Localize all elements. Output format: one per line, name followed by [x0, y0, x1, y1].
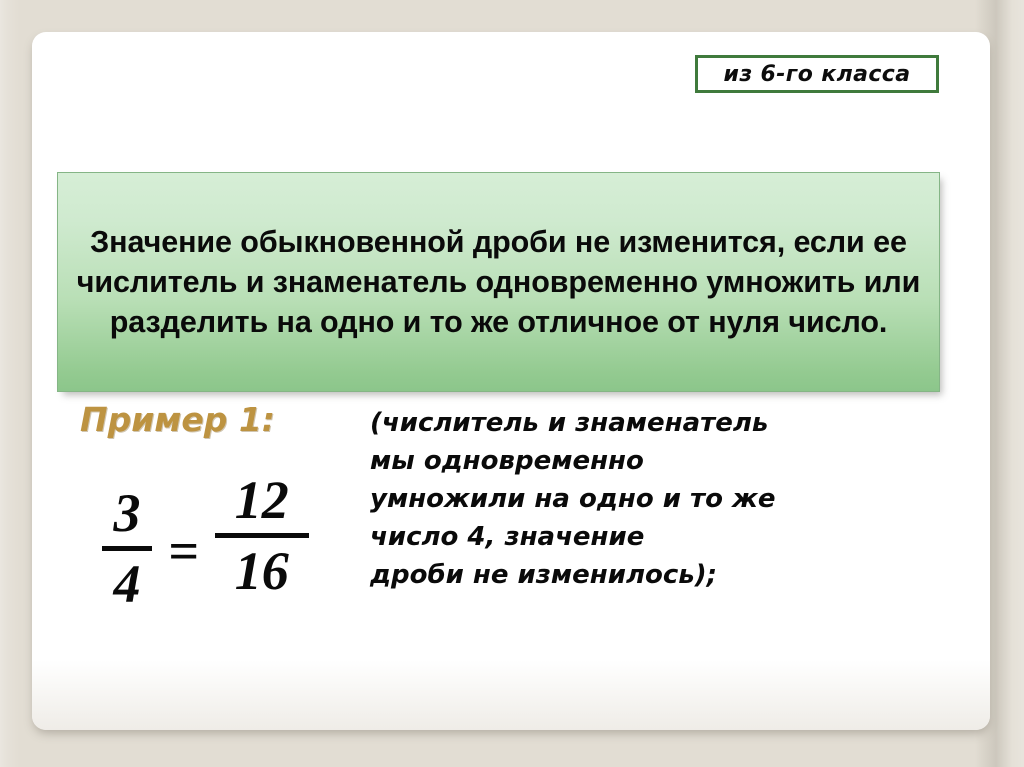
rule-callout-box: Значение обыкновенной дроби не изменится… [57, 172, 940, 392]
fraction-right-bar [215, 533, 309, 538]
example-label: Пример 1: [80, 400, 275, 439]
rule-text: Значение обыкновенной дроби не изменится… [76, 222, 921, 342]
fraction-left: 3 4 [102, 486, 152, 611]
grade-badge: из 6-го класса [695, 55, 939, 93]
fraction-right-numerator: 12 [231, 473, 293, 527]
explanation-text: (числитель и знаменатель мы одновременно… [370, 404, 910, 594]
fraction-right: 12 16 [215, 473, 309, 598]
fraction-equation: 3 4 = 12 16 [102, 460, 309, 611]
slide-panel: из 6-го класса Значение обыкновенной дро… [32, 32, 990, 730]
fraction-left-bar [102, 546, 152, 551]
fraction-left-numerator: 3 [108, 486, 147, 540]
equals-sign: = [168, 520, 199, 582]
fraction-left-denominator: 4 [108, 557, 147, 611]
grade-badge-label: из 6-го класса [724, 62, 911, 87]
fraction-right-denominator: 16 [231, 544, 293, 598]
